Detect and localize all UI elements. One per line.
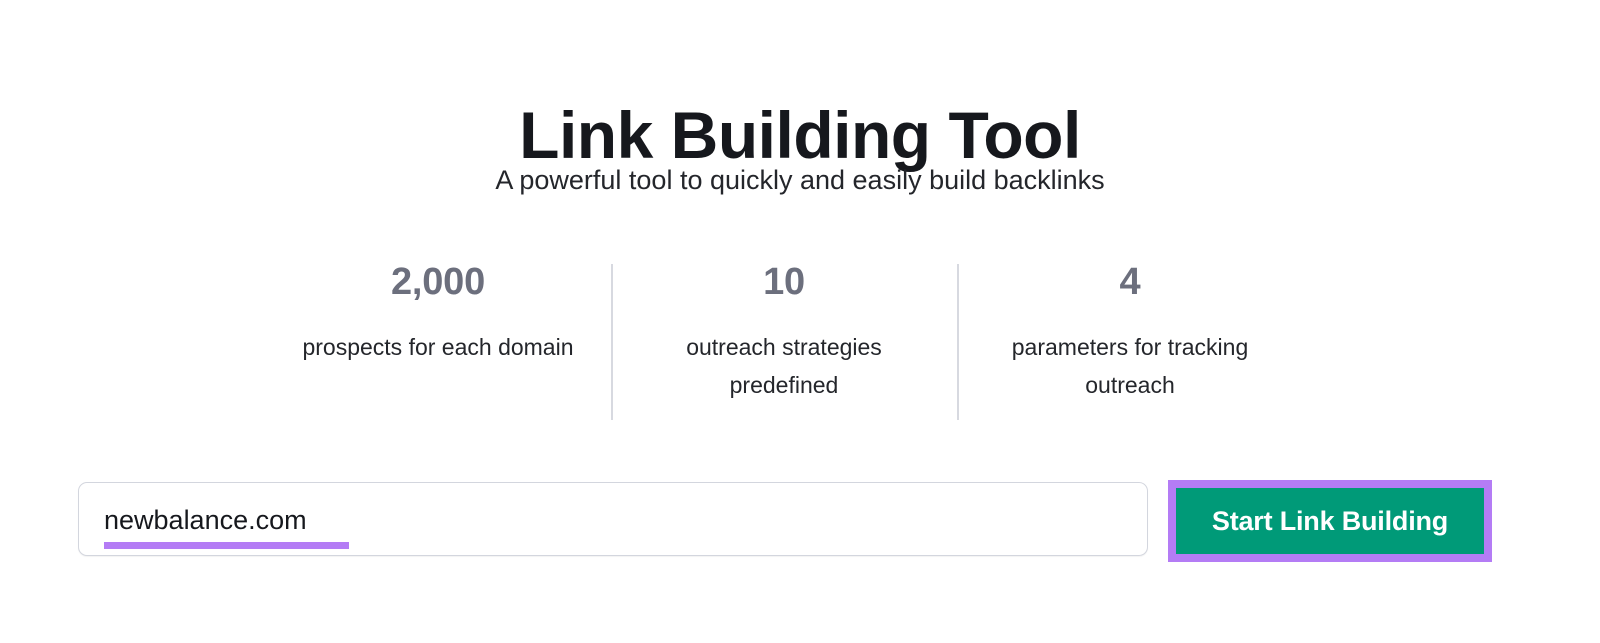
stat-value: 2,000 bbox=[291, 258, 585, 306]
stat-label: outreach strategies predefined bbox=[637, 328, 931, 404]
stats-row: 2,000 prospects for each domain 10 outre… bbox=[264, 258, 1304, 426]
stat-value: 4 bbox=[983, 258, 1277, 306]
start-link-building-button[interactable]: Start Link Building bbox=[1176, 488, 1484, 554]
stat-item-prospects: 2,000 prospects for each domain bbox=[265, 258, 611, 366]
domain-input-value: newbalance.com bbox=[104, 501, 349, 539]
page-subtitle: A powerful tool to quickly and easily bu… bbox=[0, 162, 1600, 198]
stat-label: prospects for each domain bbox=[291, 328, 585, 366]
domain-highlight-underline bbox=[104, 542, 349, 549]
stat-item-tracking-parameters: 4 parameters for tracking outreach bbox=[957, 258, 1303, 404]
start-link-building-highlight: Start Link Building bbox=[1168, 480, 1492, 562]
search-row: newbalance.com Start Link Building bbox=[78, 480, 1496, 560]
stat-value: 10 bbox=[637, 258, 931, 306]
link-building-tool-page: Link Building Tool A powerful tool to qu… bbox=[0, 0, 1600, 643]
stat-label: parameters for tracking outreach bbox=[983, 328, 1277, 404]
domain-input[interactable]: newbalance.com bbox=[78, 482, 1148, 556]
domain-value-wrapper: newbalance.com bbox=[104, 501, 349, 549]
stat-item-outreach-strategies: 10 outreach strategies predefined bbox=[611, 258, 957, 404]
